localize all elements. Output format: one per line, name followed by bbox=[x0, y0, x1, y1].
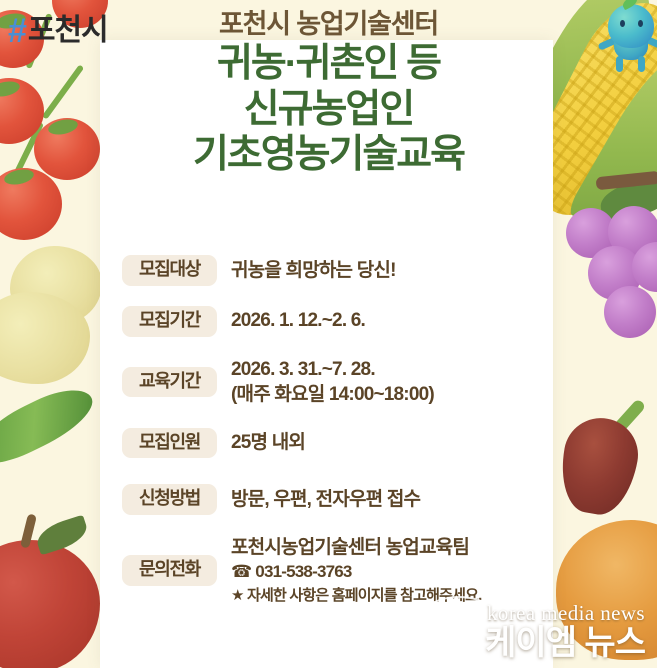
info-row-method: 신청방법 방문, 우편, 전자우편 접수 bbox=[122, 484, 542, 515]
poster-title-line-2: 신규농업인 bbox=[0, 87, 657, 133]
contact-phone: ☎ 031-538-3763 bbox=[231, 561, 482, 584]
info-row-contact: 문의전화 포천시농업기술센터 농업교육팀 ☎ 031-538-3763 ★ 자세… bbox=[122, 535, 542, 606]
info-label-contact: 문의전화 bbox=[122, 555, 217, 586]
contact-note: ★ 자세한 사항은 홈페이지를 참고해주세요. bbox=[231, 586, 482, 606]
info-label-education-period: 교육기간 bbox=[122, 367, 217, 398]
hash-icon: # bbox=[8, 14, 26, 48]
logo-city-name: 포천시 bbox=[28, 16, 108, 46]
contact-department: 포천시농업기술센터 농업교육팀 bbox=[231, 535, 482, 560]
info-value-method: 방문, 우편, 전자우편 접수 bbox=[231, 487, 420, 512]
info-table: 모집대상 귀농을 희망하는 당신! 모집기간 2026. 1. 12.~2. 6… bbox=[122, 255, 542, 626]
info-row-capacity: 모집인원 25명 내외 bbox=[122, 428, 542, 459]
info-value-target: 귀농을 희망하는 당신! bbox=[231, 258, 396, 283]
info-value-contact: 포천시농업기술센터 농업교육팀 ☎ 031-538-3763 ★ 자세한 사항은… bbox=[231, 535, 482, 606]
info-row-application-period: 모집기간 2026. 1. 12.~2. 6. bbox=[122, 306, 542, 337]
info-row-target: 모집대상 귀농을 희망하는 당신! bbox=[122, 255, 542, 286]
education-period-dates: 2026. 3. 31.~7. 28. bbox=[231, 357, 434, 382]
info-label-application-period: 모집기간 bbox=[122, 306, 217, 337]
info-label-target: 모집대상 bbox=[122, 255, 217, 286]
poster-title-line-3: 기초영농기술교육 bbox=[0, 132, 657, 178]
info-value-education-period: 2026. 3. 31.~7. 28. (매주 화요일 14:00~18:00) bbox=[231, 357, 434, 408]
info-label-capacity: 모집인원 bbox=[122, 428, 217, 459]
info-value-application-period: 2026. 1. 12.~2. 6. bbox=[231, 308, 365, 333]
info-row-education-period: 교육기간 2026. 3. 31.~7. 28. (매주 화요일 14:00~1… bbox=[122, 357, 542, 408]
info-label-method: 신청방법 bbox=[122, 484, 217, 515]
city-hashtag-logo: # 포천시 bbox=[8, 14, 108, 48]
poster-root: # 포천시 포천시 농업기술센터 귀농·귀촌인 등 신규농업인 기초영농기술교육… bbox=[0, 0, 657, 668]
education-period-schedule: (매주 화요일 14:00~18:00) bbox=[231, 382, 434, 407]
info-value-capacity: 25명 내외 bbox=[231, 430, 305, 455]
